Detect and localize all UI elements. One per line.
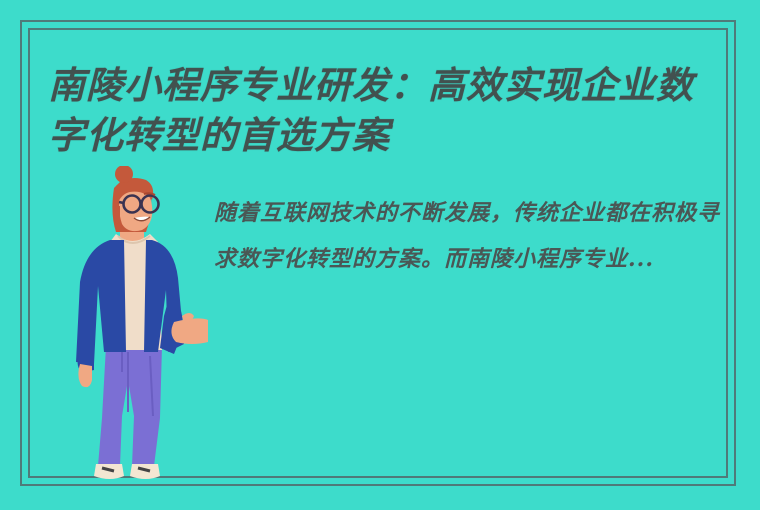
right-hand	[171, 318, 208, 344]
glasses-temple	[119, 202, 124, 203]
left-shoe	[94, 464, 124, 479]
left-hand	[78, 364, 92, 387]
person-illustration	[58, 166, 208, 486]
article-excerpt: 随着互联网技术的不断发展，传统企业都在积极寻求数字化转型的方案。而南陵小程序专业…	[214, 190, 730, 282]
right-shoe	[130, 464, 160, 479]
page-title: 南陵小程序专业研发：高效实现企业数字化转型的首选方案	[48, 60, 720, 160]
poster-card: 南陵小程序专业研发：高效实现企业数字化转型的首选方案 随着互联网技术的不断发展，…	[0, 0, 760, 510]
left-sleeve	[78, 316, 94, 372]
